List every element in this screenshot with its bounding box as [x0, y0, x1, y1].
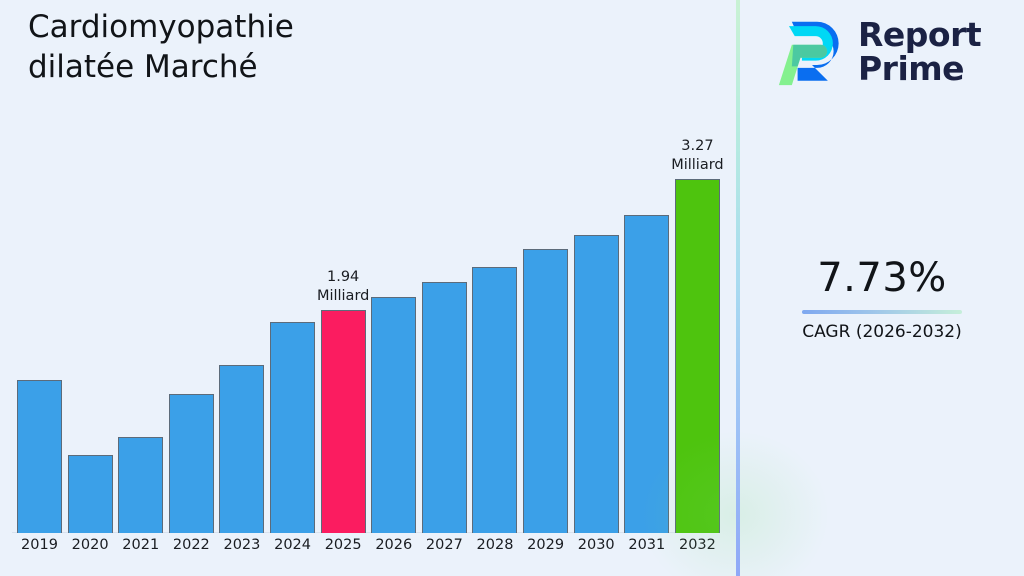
bar-2028[interactable] — [472, 267, 517, 533]
bar-slot — [472, 120, 517, 533]
bar-group: 1.94 Milliard3.27 Milliard — [17, 120, 720, 533]
bar-slot — [270, 120, 315, 533]
bar-2022[interactable] — [169, 394, 214, 533]
chart-title: Cardiomyopathie dilatée Marché — [28, 8, 448, 87]
cagr-block: 7.73% CAGR (2026-2032) — [750, 255, 1014, 342]
bar-2026[interactable] — [371, 297, 416, 533]
bar-2029[interactable] — [523, 249, 568, 533]
bar-slot — [118, 120, 163, 533]
bar-2030[interactable] — [574, 235, 619, 533]
x-axis-labels: 2019202020212022202320242025202620272028… — [17, 537, 720, 553]
x-axis-label-2025: 2025 — [321, 537, 366, 553]
bar-2031[interactable] — [624, 215, 669, 533]
bar-slot — [624, 120, 669, 533]
bar-2024[interactable] — [270, 322, 315, 533]
bar-2032[interactable] — [675, 179, 720, 533]
x-axis-label-2024: 2024 — [270, 537, 315, 553]
brand-name: Report Prime — [858, 18, 981, 85]
bar-2019[interactable] — [17, 380, 62, 533]
x-axis-label-2020: 2020 — [68, 537, 113, 553]
bar-slot: 3.27 Milliard — [675, 120, 720, 533]
chart-screenshot: Cardiomyopathie dilatée Marché 1.94 Mill… — [0, 0, 1024, 576]
bar-2021[interactable] — [118, 437, 163, 533]
bar-slot — [169, 120, 214, 533]
x-axis-label-2026: 2026 — [371, 537, 416, 553]
bar-2027[interactable] — [422, 282, 467, 533]
brand-logo: Report Prime — [776, 14, 1008, 90]
bar-2023[interactable] — [219, 365, 264, 533]
cagr-value: 7.73% — [750, 255, 1014, 301]
bar-slot: 1.94 Milliard — [321, 120, 366, 533]
report-prime-logo-icon — [776, 16, 848, 88]
bar-slot — [68, 120, 113, 533]
bar-slot — [17, 120, 62, 533]
x-axis-label-2022: 2022 — [169, 537, 214, 553]
bar-2020[interactable] — [68, 455, 113, 533]
x-axis-label-2021: 2021 — [118, 537, 163, 553]
x-axis-label-2028: 2028 — [472, 537, 517, 553]
cagr-caption: CAGR (2026-2032) — [750, 322, 1014, 342]
x-axis-label-2030: 2030 — [574, 537, 619, 553]
cagr-divider-rule — [802, 310, 962, 314]
x-axis-label-2023: 2023 — [219, 537, 264, 553]
x-axis-label-2032: 2032 — [675, 537, 720, 553]
chart-panel: Cardiomyopathie dilatée Marché 1.94 Mill… — [0, 0, 738, 576]
bar-slot — [422, 120, 467, 533]
plot-area: 1.94 Milliard3.27 Milliard — [0, 120, 738, 533]
brand-panel: Report Prime 7.73% CAGR (2026-2032) — [740, 0, 1024, 576]
bar-slot — [219, 120, 264, 533]
bar-slot — [371, 120, 416, 533]
bar-slot — [523, 120, 568, 533]
x-axis-label-2029: 2029 — [523, 537, 568, 553]
x-axis-label-2019: 2019 — [17, 537, 62, 553]
bar-slot — [574, 120, 619, 533]
bar-2025[interactable] — [321, 310, 366, 533]
x-axis-label-2031: 2031 — [624, 537, 669, 553]
x-axis-label-2027: 2027 — [422, 537, 467, 553]
